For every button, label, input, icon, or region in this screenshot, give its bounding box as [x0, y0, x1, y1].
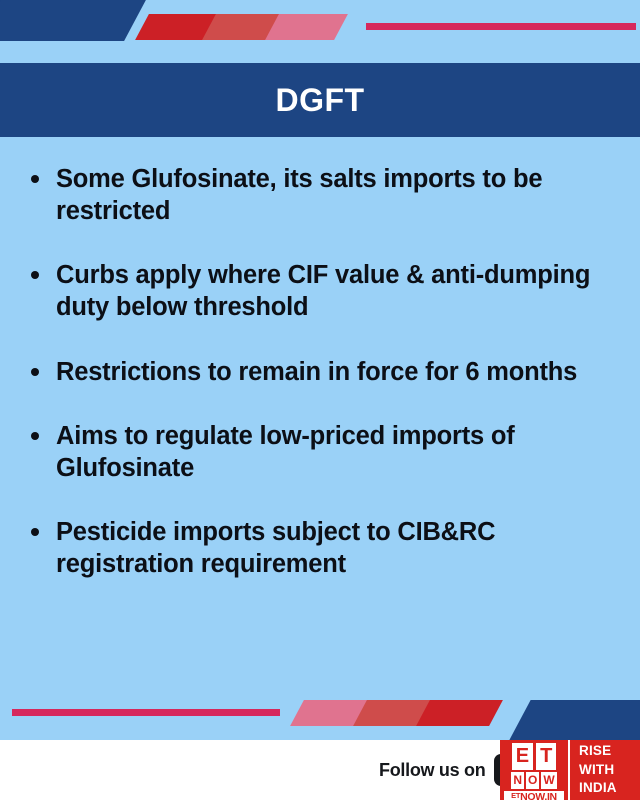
etnow-logo: E T N O W ETNOW.IN — [500, 740, 568, 800]
list-item: Some Glufosinate, its salts imports to b… — [22, 163, 618, 227]
bullet-dot-icon — [31, 271, 39, 279]
list-item-text: Pesticide imports subject to CIB&RC regi… — [56, 518, 495, 578]
footer-bar: Follow us on @etnowlive E T N O W — [0, 740, 640, 800]
etnow-url-prefix: ET — [511, 791, 520, 800]
bullet-dot-icon — [31, 175, 39, 183]
etnow-tagline: RISE WITH INDIA — [568, 740, 640, 800]
list-item-text: Aims to regulate low-priced imports of G… — [56, 422, 515, 482]
footer-social-group: Follow us on @etnowlive E T N O W — [0, 740, 640, 800]
news-card: DGFT Some Glufosinate, its salts imports… — [0, 0, 640, 800]
etnow-url-main: NOW.IN — [520, 791, 557, 800]
bullet-dot-icon — [31, 432, 39, 440]
list-item: Restrictions to remain in force for 6 mo… — [22, 356, 618, 388]
bottom-banner-red-stripe-1 — [416, 700, 503, 726]
tagline-line-3: INDIA — [579, 779, 640, 798]
bottom-banner-magenta-line — [12, 709, 280, 716]
list-item: Pesticide imports subject to CIB&RC regi… — [22, 516, 618, 580]
top-banner-pink-stripe-3 — [265, 14, 348, 40]
etnow-logo-letter-e: E — [512, 743, 533, 770]
tagline-line-1: RISE — [579, 742, 640, 761]
page-title: DGFT — [275, 82, 364, 119]
bottom-banner-navy-block — [560, 700, 640, 740]
headline-bullet-list: Some Glufosinate, its salts imports to b… — [22, 163, 618, 580]
etnow-logo-letter-t: T — [536, 743, 556, 770]
top-banner-magenta-line — [366, 23, 636, 30]
follow-us-label: Follow us on — [379, 760, 485, 781]
bottom-decorative-banner — [0, 695, 640, 740]
list-item: Aims to regulate low-priced imports of G… — [22, 420, 618, 484]
list-item: Curbs apply where CIF value & anti-dumpi… — [22, 259, 618, 323]
list-item-text: Restrictions to remain in force for 6 mo… — [56, 358, 577, 386]
etnow-logo-letter-n: N — [511, 772, 524, 789]
tagline-line-2: WITH — [579, 761, 640, 780]
top-decorative-banner — [0, 0, 640, 63]
title-band: DGFT — [0, 63, 640, 137]
etnow-logo-now-row: N O W — [504, 772, 564, 789]
etnow-logo-letter-w: W — [541, 772, 556, 789]
bullet-dot-icon — [31, 368, 39, 376]
top-banner-navy-slant — [0, 0, 146, 41]
bullet-dot-icon — [31, 528, 39, 536]
bullet-content-area: Some Glufosinate, its salts imports to b… — [0, 137, 640, 695]
etnow-logo-et-row: E T — [504, 743, 564, 770]
list-item-text: Some Glufosinate, its salts imports to b… — [56, 165, 542, 225]
etnow-logo-letter-o: O — [526, 772, 539, 789]
list-item-text: Curbs apply where CIF value & anti-dumpi… — [56, 261, 590, 321]
etnow-brand-block: E T N O W ETNOW.IN RISE WITH INDIA — [500, 740, 640, 800]
etnow-website-url[interactable]: ETNOW.IN — [504, 791, 564, 800]
